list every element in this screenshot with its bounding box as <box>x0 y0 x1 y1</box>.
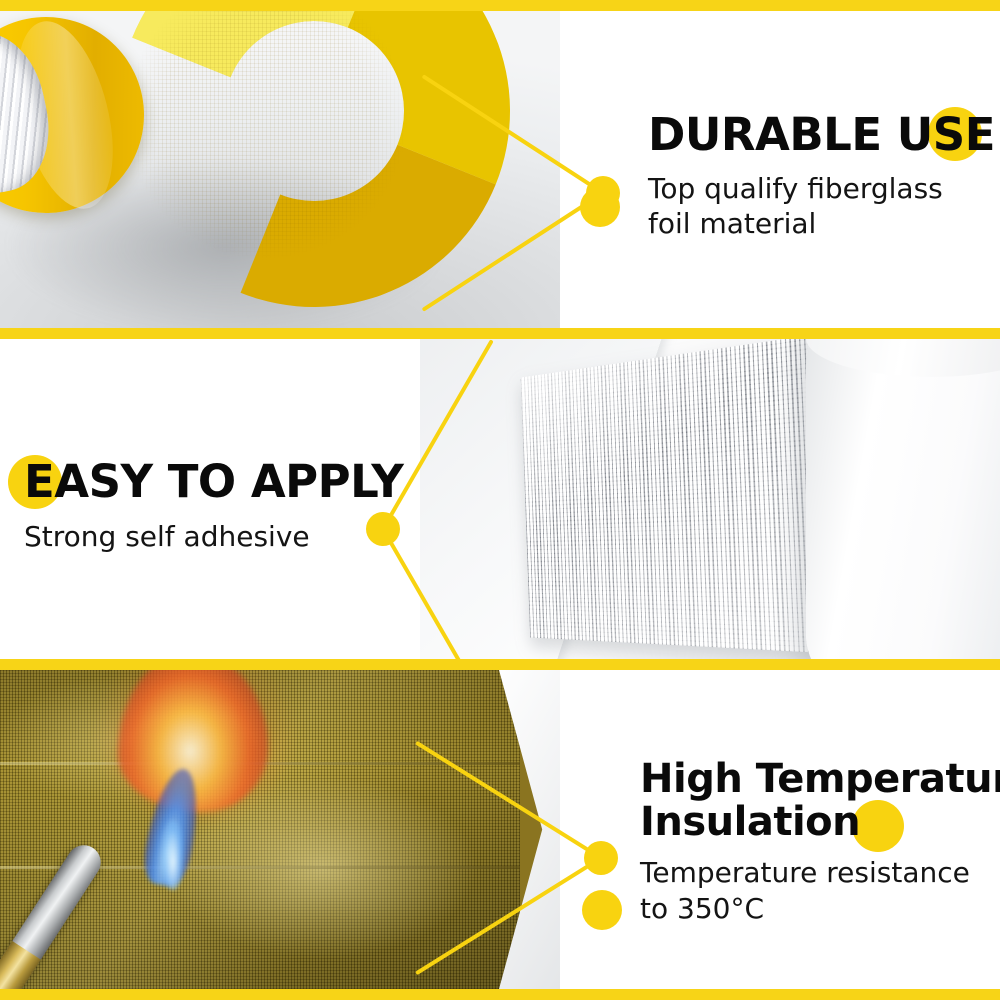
feature-subtitle-line-1: Temperature resistance <box>640 855 1000 890</box>
image-silver-mesh-tape <box>420 339 1000 659</box>
feature-headline: EASY TO APPLY <box>24 458 424 507</box>
connector-node <box>584 841 618 875</box>
feature-headline-line-1: High Temperature <box>640 758 1000 801</box>
divider-row1-row2 <box>0 328 1000 339</box>
feature-row-high-temperature-insulation: High Temperature Insulation Temperature … <box>0 670 1000 989</box>
accent-dot-left <box>580 187 620 227</box>
feature-headline: DURABLE USE <box>648 111 988 160</box>
flame-inner-core <box>162 820 184 890</box>
feature-subtitle-line-2: to 350°C <box>640 891 1000 926</box>
divider-row2-row3 <box>0 659 1000 670</box>
text-block-easy-to-apply: EASY TO APPLY Strong self adhesive <box>24 458 424 554</box>
image-yellow-tape-roll <box>0 11 560 328</box>
divider-bottom <box>0 989 1000 1000</box>
feature-subtitle-line-1: Strong self adhesive <box>24 519 424 554</box>
divider-top <box>0 0 1000 11</box>
text-block-high-temperature-insulation: High Temperature Insulation Temperature … <box>640 758 1000 926</box>
white-tape-roll <box>806 339 1000 659</box>
product-feature-infographic: DURABLE USE Top qualify fiberglass foil … <box>0 0 1000 1000</box>
text-block-durable-use: DURABLE USE Top qualify fiberglass foil … <box>648 111 988 241</box>
feature-subtitle-line-1: Top qualify fiberglass <box>648 171 988 206</box>
accent-dot-left <box>582 890 622 930</box>
feature-subtitle-line-2: foil material <box>648 206 988 241</box>
feature-headline-line-2: Insulation <box>640 801 1000 844</box>
feature-row-durable-use: DURABLE USE Top qualify fiberglass foil … <box>0 11 1000 328</box>
feature-row-easy-to-apply: EASY TO APPLY Strong self adhesive <box>0 339 1000 659</box>
image-blowtorch-on-foil-tape <box>0 670 560 989</box>
tape-fiber-grid <box>90 11 510 328</box>
